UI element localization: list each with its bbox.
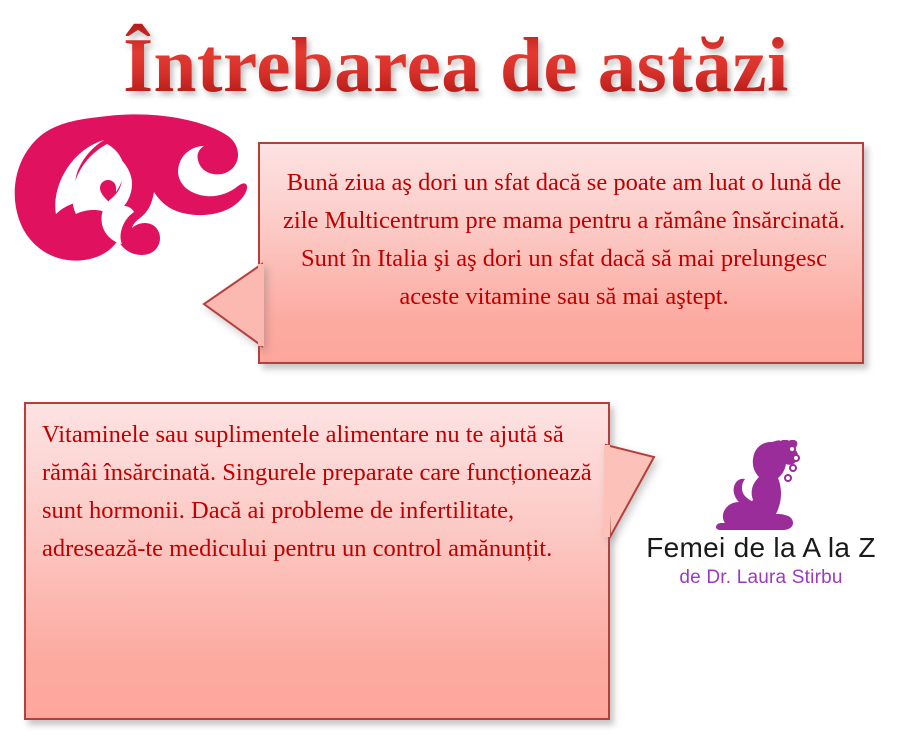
speech-bubble-question-tail xyxy=(202,262,264,348)
woman-head-profile-icon xyxy=(12,112,250,270)
speech-bubble-question: Bună ziua aş dori un sfat dacă se poate … xyxy=(258,142,864,364)
seated-woman-silhouette-icon xyxy=(713,440,809,530)
speech-bubble-answer: Vitaminele sau suplimentele alimentare n… xyxy=(24,402,610,720)
page-title: Întrebarea de astăzi xyxy=(0,22,912,108)
brand-logo: Femei de la A la Z de Dr. Laura Stirbu xyxy=(618,440,904,590)
speech-bubble-answer-text: Vitaminele sau suplimentele alimentare n… xyxy=(42,416,594,568)
logo-title: Femei de la A la Z xyxy=(618,531,904,565)
logo-subtitle: de Dr. Laura Stirbu xyxy=(618,566,904,590)
poster-canvas: Întrebarea de astăzi Bună ziua aş dori u… xyxy=(0,0,912,750)
speech-bubble-question-text: Bună ziua aş dori un sfat dacă se poate … xyxy=(280,164,848,316)
speech-bubble-answer-tail xyxy=(604,443,660,539)
